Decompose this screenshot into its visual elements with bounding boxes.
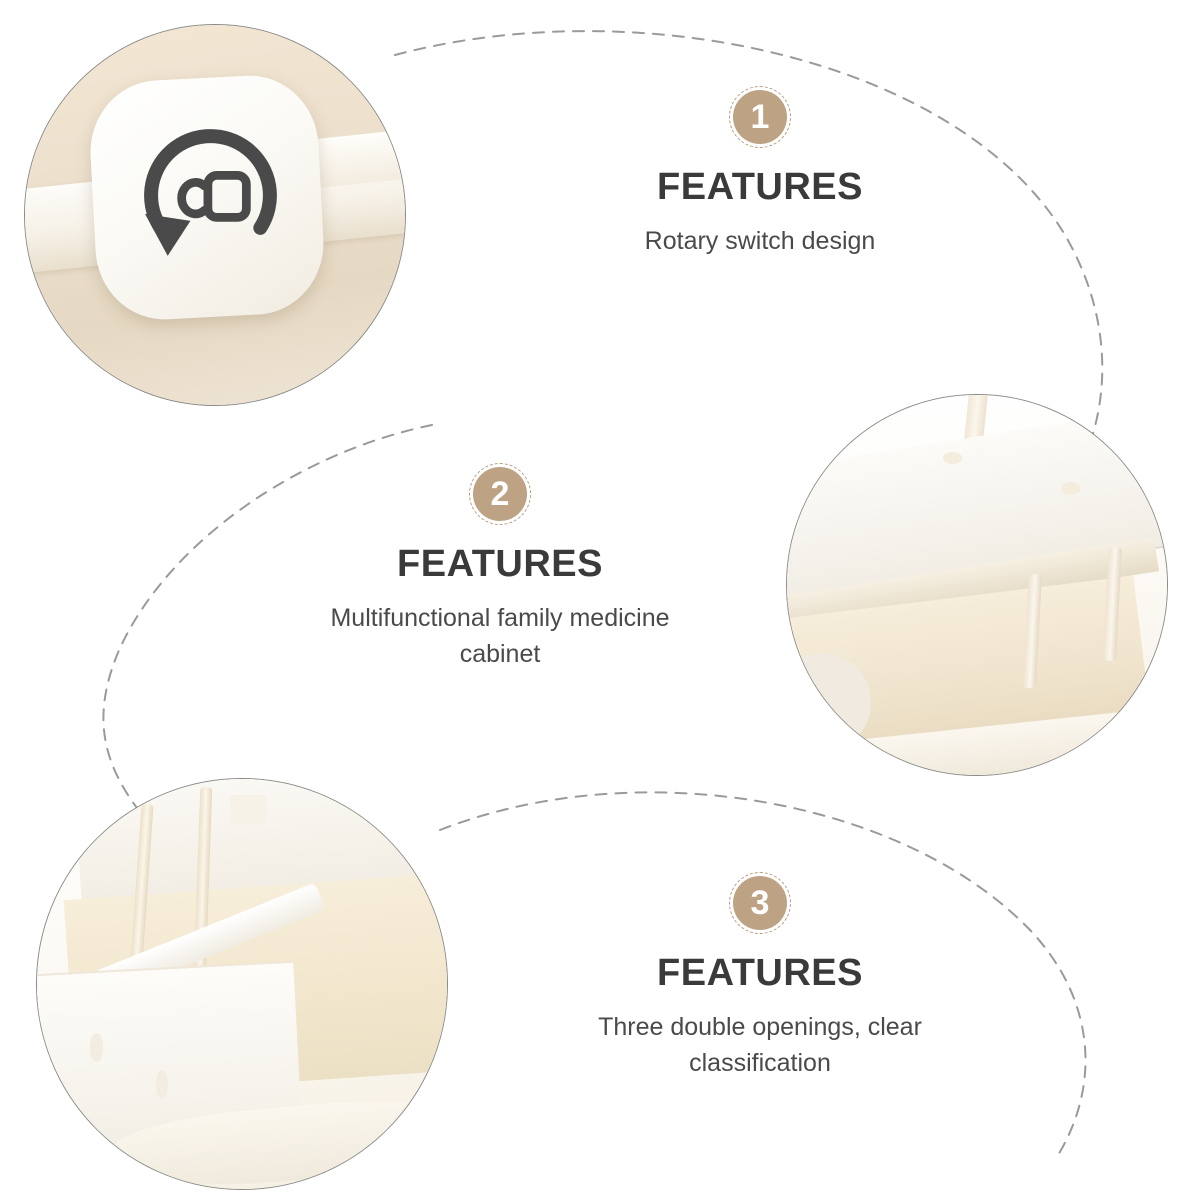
feature-block-3: 3 FEATURES Three double openings, clear …	[550, 872, 970, 1082]
feature-title: FEATURES	[550, 952, 970, 995]
rotate-arrow-lock-icon	[124, 109, 299, 284]
feature-block-1: 1 FEATURES Rotary switch design	[560, 86, 960, 259]
feature-title: FEATURES	[560, 166, 960, 209]
feature-badge-3: 3	[729, 872, 791, 934]
infographic-page: 1 FEATURES Rotary switch design 2 FEATUR…	[0, 0, 1200, 1200]
badge-number: 1	[733, 90, 787, 144]
feature-description: Three double openings, clear classificat…	[550, 1009, 970, 1082]
feature-badge-2: 2	[469, 463, 531, 525]
badge-number: 3	[733, 876, 787, 930]
feature-description: Multifunctional family medicine cabinet	[290, 600, 710, 673]
feature-description: Rotary switch design	[560, 223, 960, 259]
lid-nub	[943, 452, 962, 464]
wall-nub	[156, 1070, 168, 1099]
feature-block-2: 2 FEATURES Multifunctional family medici…	[290, 463, 710, 673]
lid-nub	[1061, 482, 1080, 494]
product-photo-rotary-switch	[24, 24, 406, 406]
product-photo-shelf-compartment	[786, 394, 1168, 776]
feature-badge-1: 1	[729, 86, 791, 148]
badge-number: 2	[473, 467, 527, 521]
lid-clip	[230, 795, 267, 824]
wall-nub	[90, 1033, 102, 1062]
feature-title: FEATURES	[290, 543, 710, 586]
product-photo-divided-interior	[36, 778, 448, 1190]
